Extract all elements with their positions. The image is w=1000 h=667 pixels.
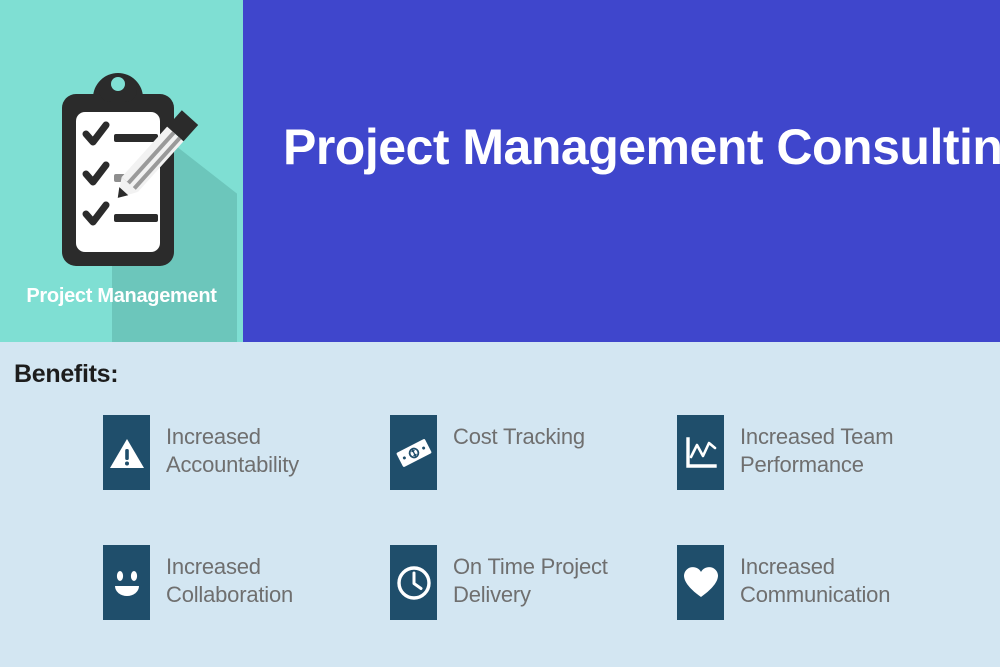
infographic-page: Project Management Project Management Co… — [0, 0, 1000, 667]
benefit-label: On Time Project Delivery — [453, 545, 653, 609]
benefit-label: Cost Tracking — [453, 415, 585, 451]
header-banner: Project Management Project Management Co… — [0, 0, 1000, 342]
page-title: Project Management Consulting — [283, 122, 1000, 172]
benefit-item-cost-tracking: Cost Tracking — [390, 415, 677, 545]
smiley-face-icon — [103, 545, 150, 620]
logo-panel: Project Management — [0, 0, 243, 342]
benefit-item-increased-collaboration: Increased Collaboration — [103, 545, 390, 667]
benefits-heading: Benefits: — [14, 360, 118, 389]
benefit-label: Increased Team Performance — [740, 415, 940, 479]
benefits-panel: Benefits: Increased Accountability — [0, 342, 1000, 667]
warning-triangle-icon — [103, 415, 150, 490]
clock-icon — [390, 545, 437, 620]
money-banknote-icon — [390, 415, 437, 490]
benefit-item-increased-team-performance: Increased Team Performance — [677, 415, 977, 545]
benefit-label: Increased Communication — [740, 545, 940, 609]
line-chart-icon — [677, 415, 724, 490]
benefit-label: Increased Accountability — [166, 415, 366, 479]
benefit-item-increased-communication: Increased Communication — [677, 545, 977, 667]
clipboard-checklist-pencil-icon — [52, 68, 202, 273]
title-panel: Project Management Consulting — [243, 0, 1000, 342]
benefits-grid: Increased Accountability Cost — [103, 415, 983, 667]
benefit-item-on-time-project-delivery: On Time Project Delivery — [390, 545, 677, 667]
logo-caption: Project Management — [0, 285, 243, 308]
heart-icon — [677, 545, 724, 620]
benefit-label: Increased Collaboration — [166, 545, 366, 609]
benefit-item-increased-accountability: Increased Accountability — [103, 415, 390, 545]
